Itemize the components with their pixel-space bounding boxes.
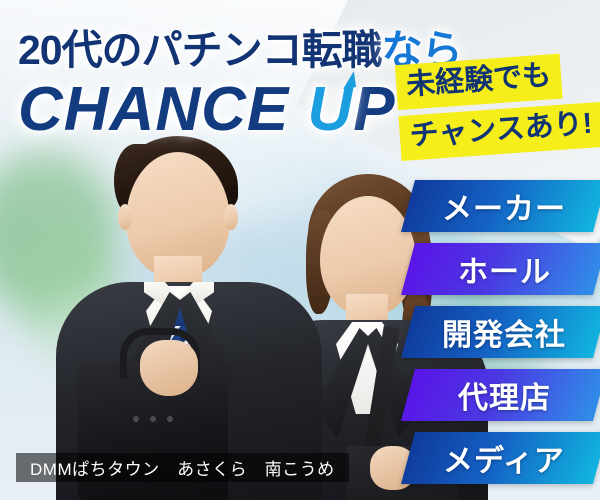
- category-button-hall[interactable]: ホール: [401, 243, 600, 295]
- man-ear: [118, 204, 132, 230]
- category-label: メーカー: [442, 184, 566, 228]
- category-button-agency[interactable]: 代理店: [401, 369, 600, 421]
- headline-line-2: CHANCE UP: [18, 74, 396, 145]
- category-label: ホール: [458, 247, 551, 291]
- up-arrow-icon: [341, 71, 356, 89]
- man-ear: [224, 204, 238, 230]
- photo-man: [48, 130, 348, 500]
- category-label: 開発会社: [442, 310, 566, 354]
- briefcase-rivets: [130, 414, 176, 424]
- headline-up-u: U: [307, 74, 353, 145]
- man-hand: [140, 340, 198, 396]
- category-label: メディア: [443, 436, 565, 480]
- category-button-maker[interactable]: メーカー: [401, 180, 600, 232]
- advertisement-banner[interactable]: 20代のパチンコ転職なら CHANCE UP 未経験でも チャンスあり! メーカ…: [0, 0, 600, 500]
- headline-line-1-main: 20代のパチンコ転職: [18, 27, 382, 73]
- headline-chance-word: CHANCE: [18, 75, 289, 144]
- credit-strip: DMMぱちタウン あさくら 南こうめ: [16, 453, 349, 482]
- highlight-badge: 未経験でも チャンスあり!: [395, 51, 600, 161]
- credit-text: DMMぱちタウン あさくら 南こうめ: [30, 455, 335, 480]
- category-label: 代理店: [458, 373, 551, 417]
- headline-up-p: P: [353, 75, 395, 144]
- category-button-media[interactable]: メディア: [401, 432, 600, 484]
- category-button-developer[interactable]: 開発会社: [401, 306, 600, 358]
